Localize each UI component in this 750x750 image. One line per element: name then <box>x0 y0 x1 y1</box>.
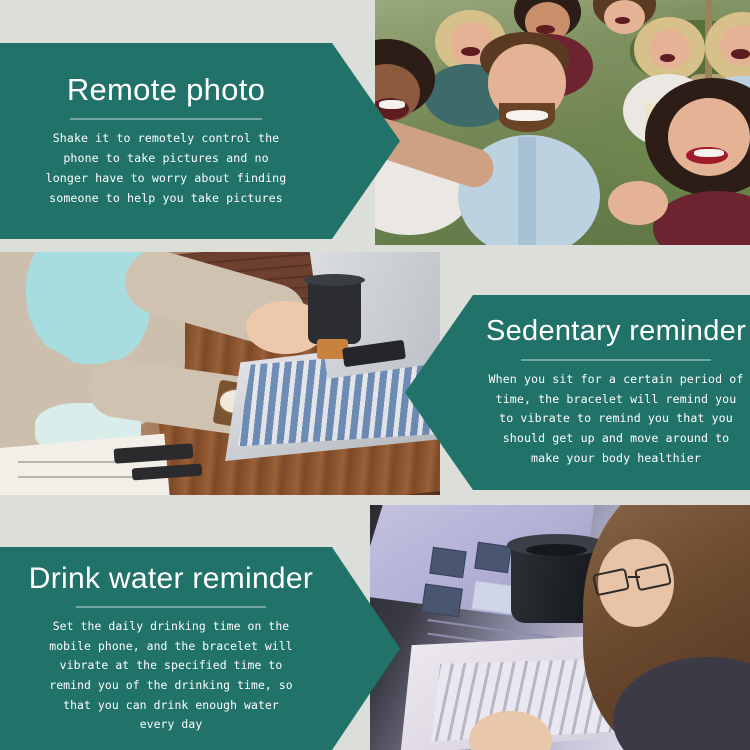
woman-typing-on-laptop-photo <box>0 252 440 495</box>
feature-section-drink-water-reminder: Drink water reminder Set the daily drink… <box>0 505 750 750</box>
feature-description: Set the daily drinking time on the mobil… <box>49 617 293 735</box>
group-selfie-photo <box>375 0 750 245</box>
feature-title: Sedentary reminder <box>486 316 746 348</box>
product-feature-infographic: Remote photo Shake it to remotely contro… <box>0 0 750 750</box>
person-at-laptop-with-mug-photo <box>370 505 750 750</box>
feature-title: Remote photo <box>67 73 265 107</box>
feature-section-remote-photo: Remote photo Shake it to remotely contro… <box>0 0 750 245</box>
feature-description: Shake it to remotely control the phone t… <box>46 129 287 209</box>
feature-description: When you sit for a certain period of tim… <box>489 370 744 470</box>
title-divider <box>76 606 266 608</box>
feature-panel-remote-photo: Remote photo Shake it to remotely contro… <box>0 43 400 239</box>
feature-title: Drink water reminder <box>29 562 313 595</box>
feature-panel-sedentary-reminder: Sedentary reminder When you sit for a ce… <box>405 295 750 490</box>
feature-panel-drink-water-reminder: Drink water reminder Set the daily drink… <box>0 547 400 750</box>
title-divider <box>521 359 711 361</box>
feature-section-sedentary-reminder: Sedentary reminder When you sit for a ce… <box>0 252 750 495</box>
title-divider <box>70 118 262 120</box>
